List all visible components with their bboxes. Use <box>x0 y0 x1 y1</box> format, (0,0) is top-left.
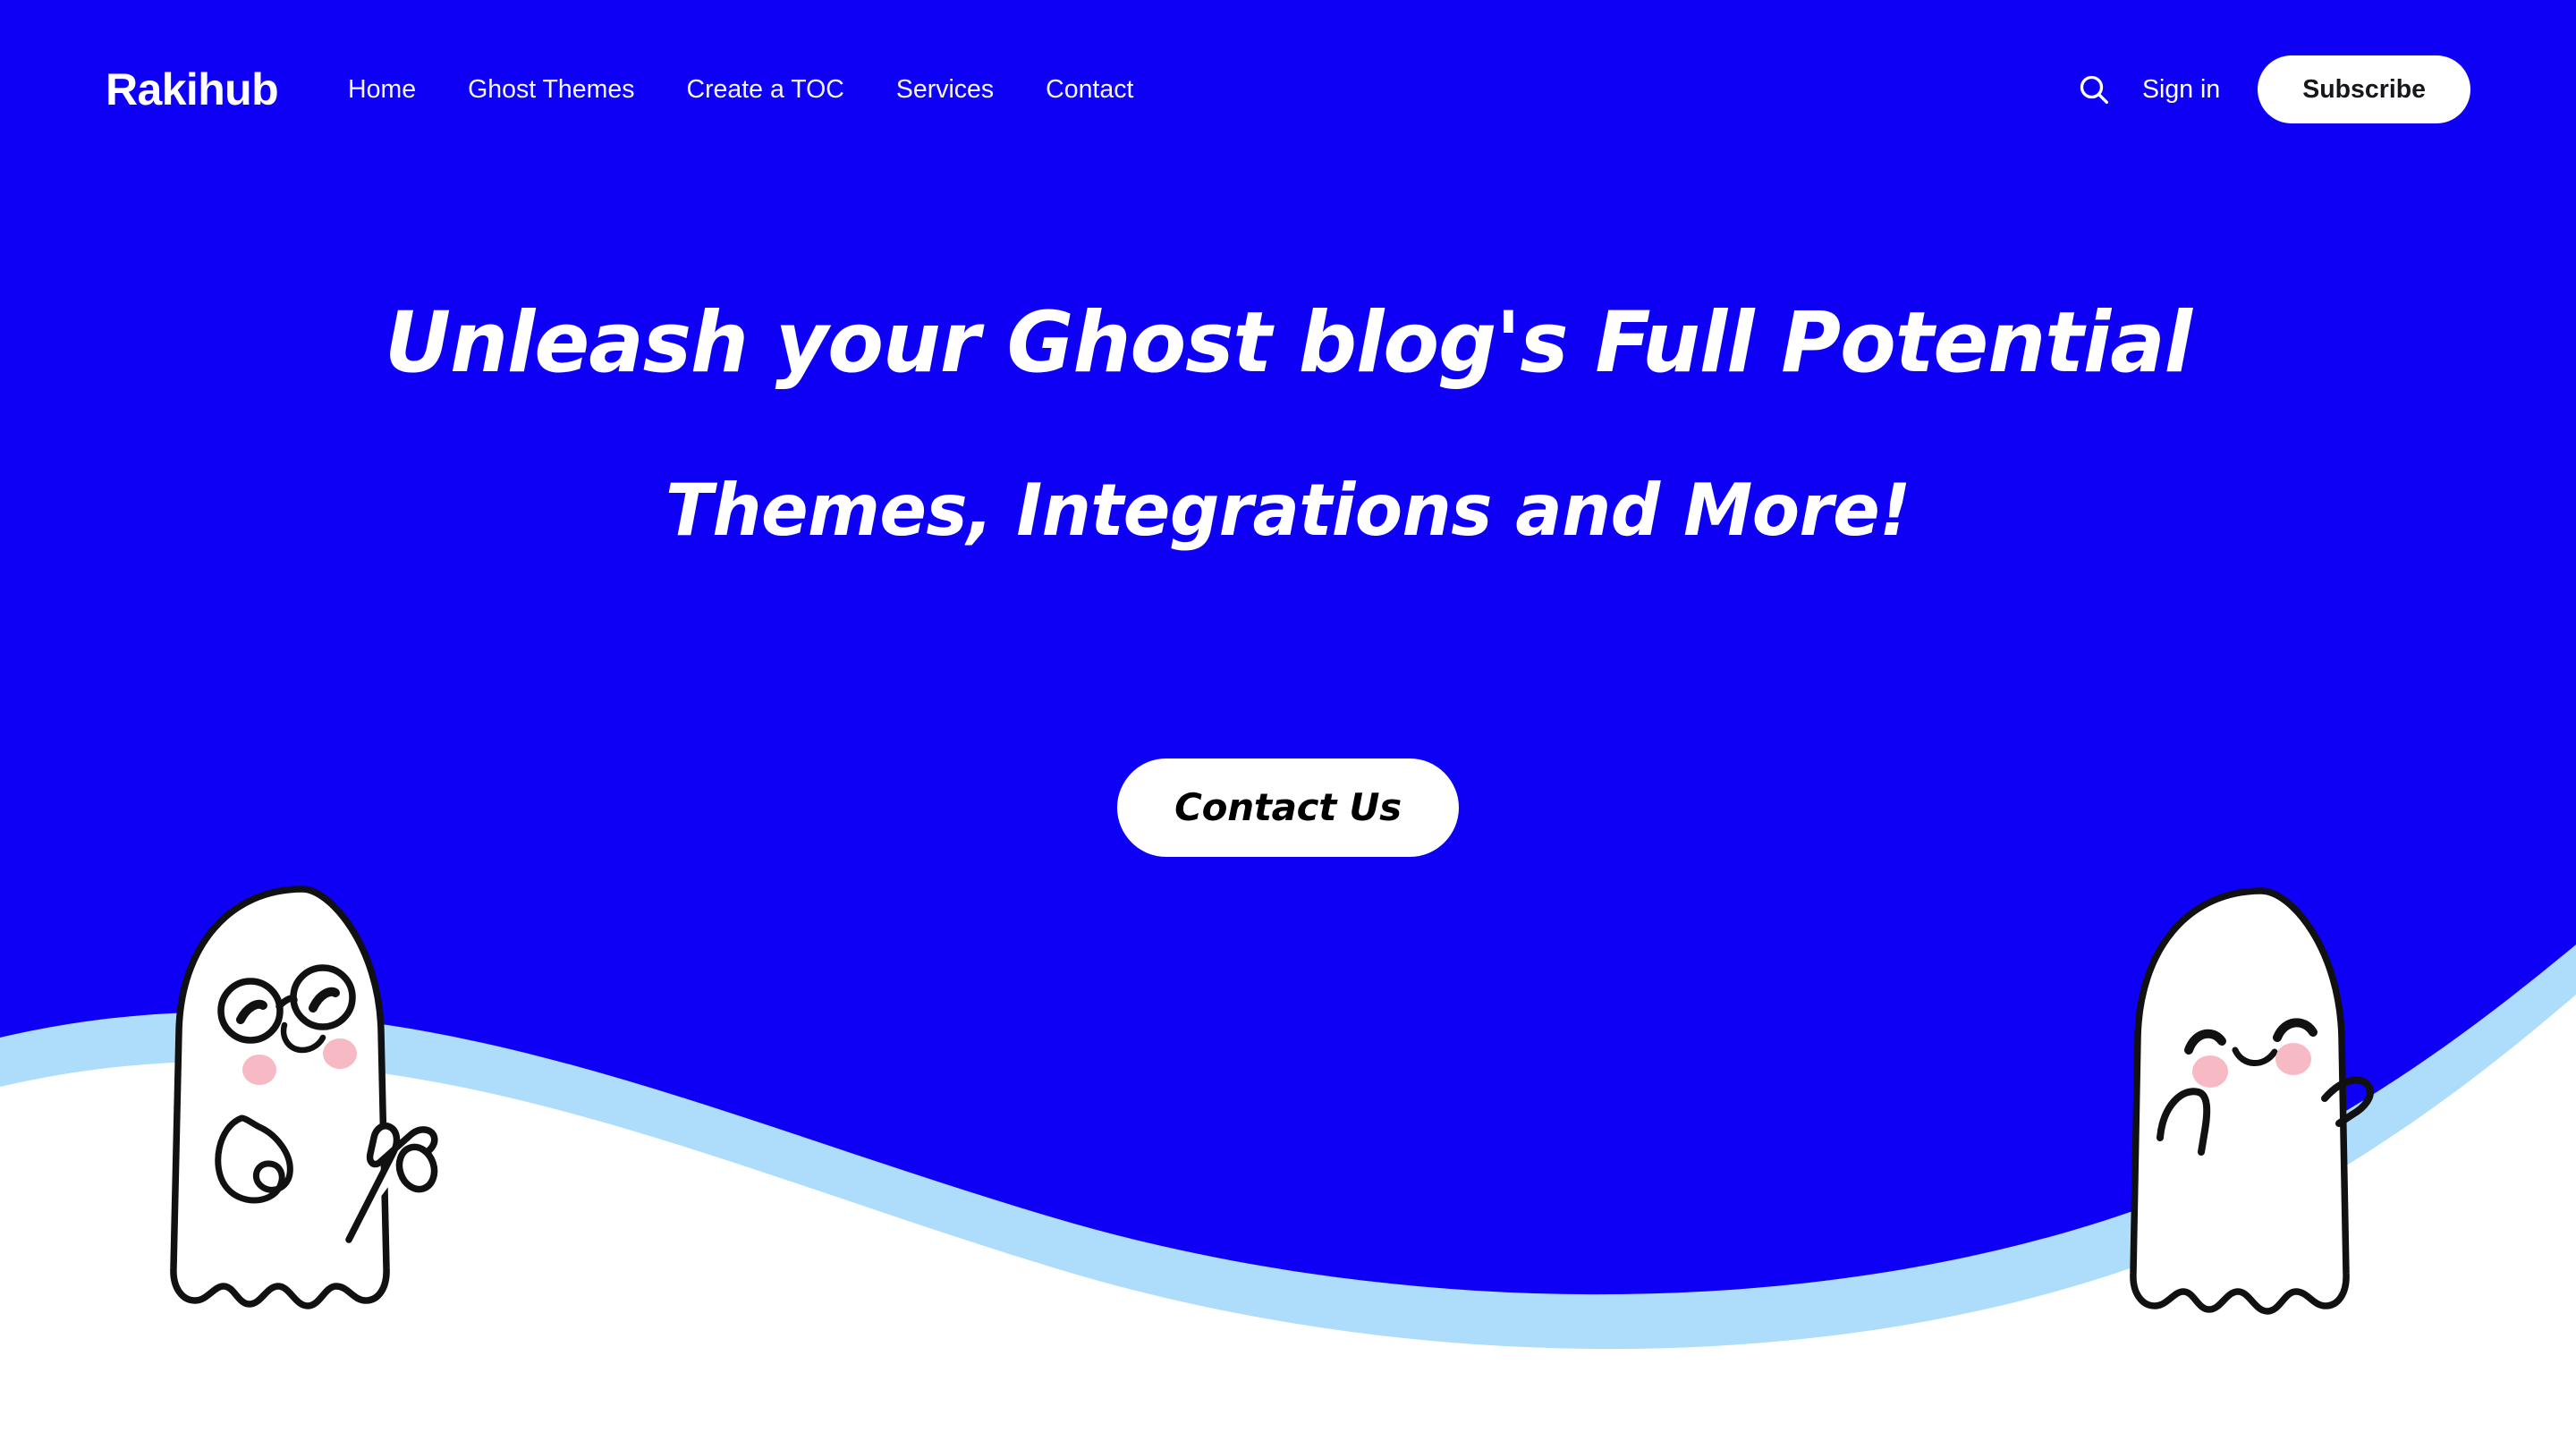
ghost-cheek-right <box>2275 1043 2311 1075</box>
nav-item-home[interactable]: Home <box>348 77 416 103</box>
ghost-body <box>174 889 386 1306</box>
sign-in-link[interactable]: Sign in <box>2142 77 2220 103</box>
header-actions: Sign in Subscribe <box>2065 55 2470 123</box>
nav-item-contact[interactable]: Contact <box>1046 77 1133 103</box>
site-header: Rakihub Home Ghost Themes Create a TOC S… <box>0 0 2576 179</box>
search-icon <box>2076 72 2112 107</box>
page-root: Rakihub Home Ghost Themes Create a TOC S… <box>0 0 2576 1449</box>
ghost-cheek-right <box>323 1038 357 1069</box>
search-button[interactable] <box>2065 61 2123 118</box>
hero-title: Unleash your Ghost blog's Full Potential <box>38 295 2538 392</box>
nav-item-create-a-toc[interactable]: Create a TOC <box>686 77 843 103</box>
nav-item-services[interactable]: Services <box>896 77 994 103</box>
ghost-cheek-left <box>242 1055 276 1085</box>
subscribe-button[interactable]: Subscribe <box>2258 55 2470 123</box>
ghost-shrugging-happy-illustration <box>2118 884 2404 1349</box>
hero-subtitle: Themes, Integrations and More! <box>38 470 2538 552</box>
brand-logo[interactable]: Rakihub <box>106 67 278 112</box>
ghost-waving-with-glasses-illustration <box>159 884 445 1349</box>
main-nav: Home Ghost Themes Create a TOC Services … <box>348 77 1133 103</box>
nav-item-ghost-themes[interactable]: Ghost Themes <box>468 77 634 103</box>
ghost-cheek-left <box>2192 1055 2228 1088</box>
hero-cta-container: Contact Us <box>0 758 2576 857</box>
contact-us-button[interactable]: Contact Us <box>1117 758 1459 857</box>
ghost-body <box>2133 891 2346 1311</box>
